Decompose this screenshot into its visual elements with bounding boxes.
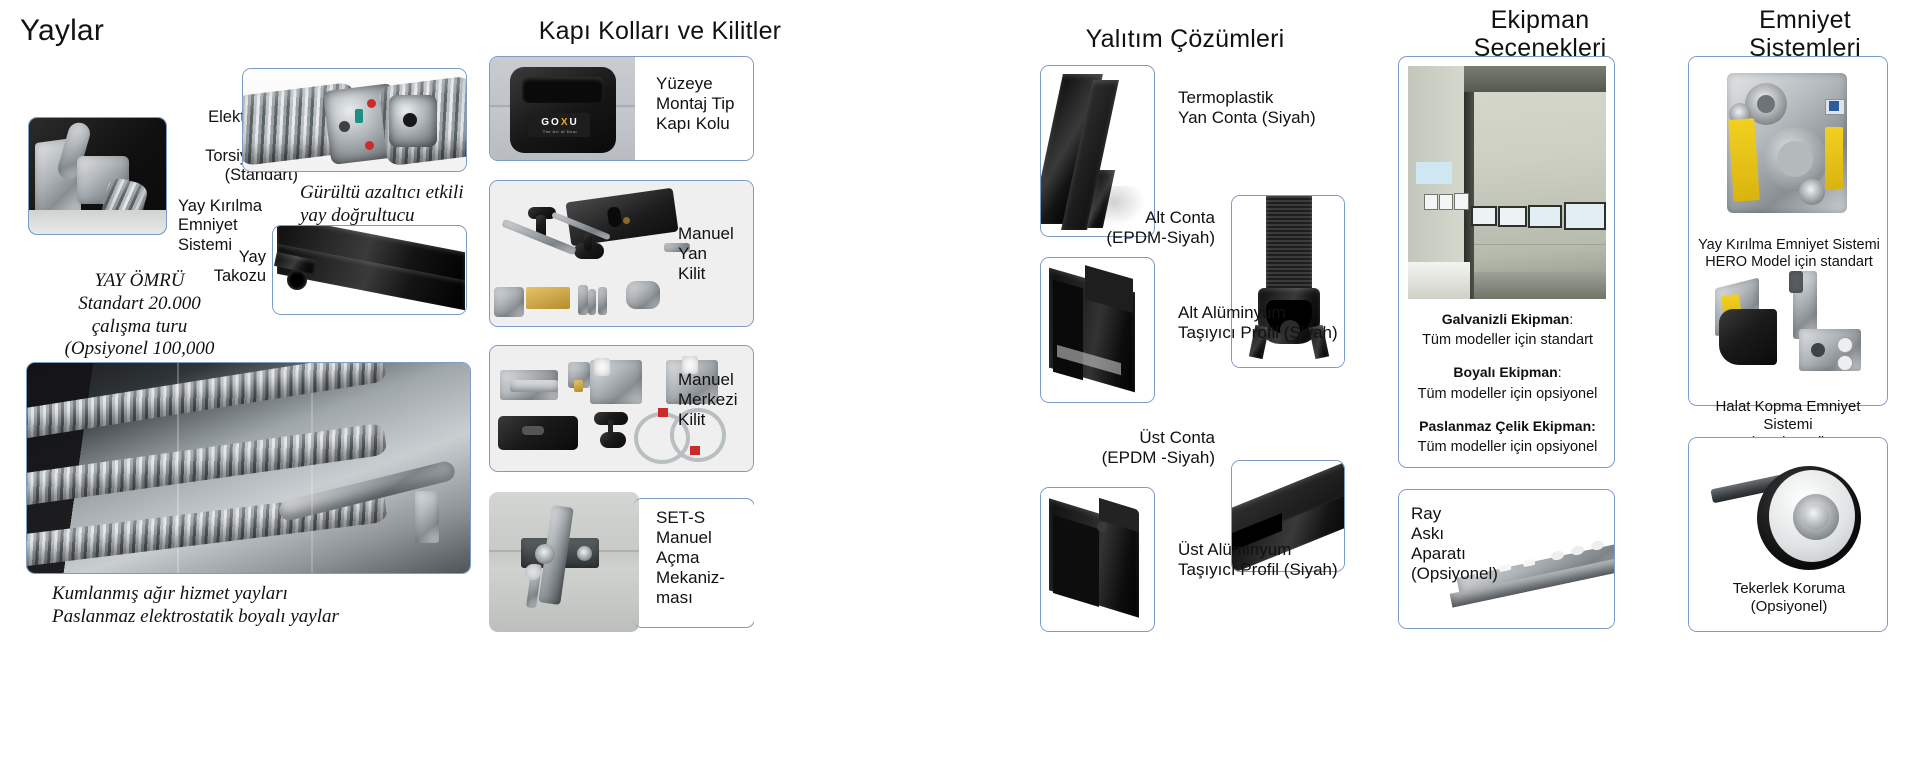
brand-goxu: GOXU The Art of Door (533, 117, 587, 134)
equipment-option-0-value: Tüm modeller için standart (1422, 332, 1593, 348)
label-manual-side-lock: Manuel Yan Kilit (678, 224, 766, 284)
equipment-options-text: Galvanizli Ekipman: Tüm modeller için st… (1405, 309, 1610, 458)
photo-heavy-duty-springs (26, 362, 471, 574)
column-title-equipment: Ekipman Seçenekleri (1395, 6, 1685, 62)
label-handle-surface-mount: Yüzeye Montaj Tip Kapı Kolu (656, 74, 766, 134)
photo-top-aluminium-profile (1040, 487, 1155, 632)
label-bottom-seal-epdm: Alt Conta (EPDM-Siyah) (1010, 208, 1215, 248)
card-spring-break-safety-system: Yay Kırılma Emniyet Sistemi HERO Model i… (1688, 56, 1888, 406)
photo-spring-break-system (28, 117, 167, 235)
equipment-option-2-value: Tüm modeller için opsiyonel (1418, 439, 1598, 455)
equipment-option-1-sep: : (1558, 364, 1562, 380)
equipment-option-2-name: Paslanmaz Çelik Ekipman: (1419, 418, 1596, 434)
note-noise-reduction: Gürültü azaltıcı etkili yay doğrultucu (300, 182, 500, 228)
label-manual-central-lock: Manuel Merkezi Kilit (678, 370, 768, 430)
column-title-springs: Yaylar (20, 14, 240, 48)
label-set-s-release: SET-S Manuel Açma Mekaniz- ması (656, 508, 756, 607)
column-title-insulation: Yalıtım Çözümleri (1010, 25, 1360, 53)
label-thermoplastic-side-seal: Termoplastik Yan Conta (Siyah) (1178, 88, 1378, 128)
equipment-option-0-name: Galvanizli Ekipman (1442, 311, 1570, 327)
caption-spring-break-safety-system: Yay Kırılma Emniyet Sistemi HERO Model i… (1693, 237, 1885, 272)
card-wheel-protection: Tekerlek Koruma (Opsiyonel) (1688, 437, 1888, 632)
equipment-option-1-value: Tüm modeller için opsiyonel (1418, 386, 1598, 402)
column-title-handles-locks: Kapı Kolları ve Kilitler (490, 17, 830, 45)
column-title-safety: Emniyet Sistemleri (1690, 6, 1920, 62)
note-springs-bottom: Kumlanmış ağır hizmet yayları Paslanmaz … (52, 583, 482, 629)
brand-goxu-tagline: The Art of Door (533, 129, 587, 134)
label-bottom-aluminium-profile: Alt Alüminyum Taşıyıcı Profil (Siyah) (1178, 303, 1388, 343)
photo-bottom-aluminium-profile (1040, 257, 1155, 403)
photo-spring-block (272, 225, 467, 315)
poster-canvas: Yaylar Elektrostatik Boyalı Torsiyon Yay… (0, 0, 1920, 784)
caption-wheel-protection: Tekerlek Koruma (Opsiyonel) (1693, 580, 1885, 616)
card-rail-hanger: Ray Askı Aparatı (Opsiyonel) (1398, 489, 1615, 629)
brand-goxu-text: GOXU (541, 117, 578, 128)
equipment-option-0-sep: : (1569, 311, 1573, 327)
card-equipment-options: Galvanizli Ekipman: Tüm modeller için st… (1398, 56, 1615, 468)
label-top-aluminium-profile: Üst Alüminyum Taşıyıcı Profil (Siyah) (1178, 540, 1393, 580)
label-top-seal-epdm: Üst Conta (EPDM -Siyah) (1010, 428, 1215, 468)
label-rail-hanger: Ray Askı Aparatı (Opsiyonel) (1411, 504, 1531, 584)
equipment-option-1-name: Boyalı Ekipman (1453, 364, 1557, 380)
photo-torsion-spring (242, 68, 467, 172)
